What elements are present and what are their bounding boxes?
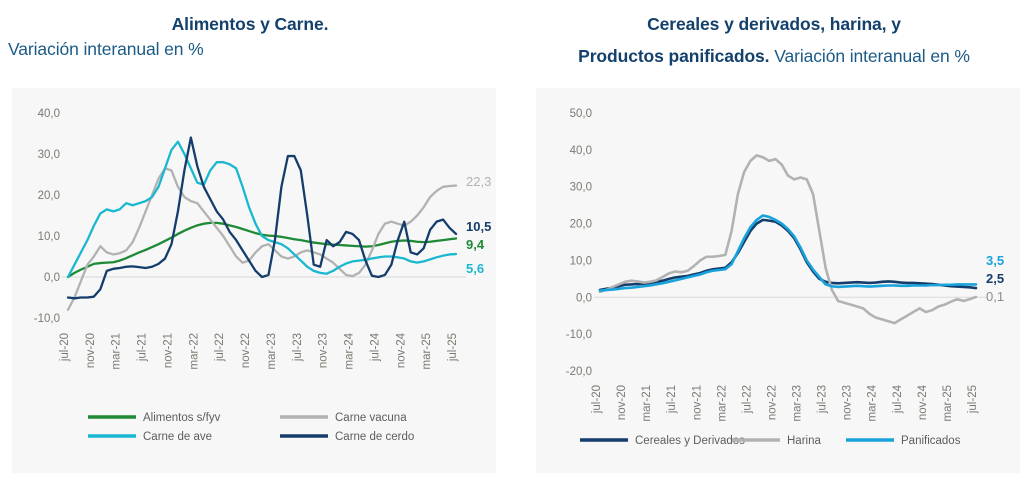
end-value-label: 0,1 [986,289,1004,304]
x-tick-label: jul-22 [214,333,226,362]
panel-alimentos-y-carne: Alimentos y Carne. Variación interanual … [0,0,500,492]
y-tick-label: 10,0 [570,255,592,267]
x-tick-label: jul-23 [817,385,829,414]
x-tick-label: mar-23 [266,333,278,369]
legend-label: Harina [787,435,821,447]
x-tick-label: jul-24 [369,332,381,362]
y-tick-label: -10,0 [34,313,60,325]
legend-label: Carne de cerdo [335,431,414,443]
y-tick-label: 30,0 [38,149,60,161]
x-tick-label: mar-22 [716,385,728,421]
x-tick-label: nov-20 [616,385,628,420]
x-tick-label: mar-24 [867,384,879,421]
x-tick-label: mar-24 [344,332,356,369]
x-tick-label: mar-23 [792,385,804,421]
left-legend: Alimentos s/fyvCarne vacunaCarne de aveC… [88,412,414,443]
y-tick-label: 20,0 [570,219,592,231]
x-tick-label: mar-25 [942,385,954,421]
y-tick-label: 10,0 [38,231,60,243]
end-value-label: 22,3 [466,174,491,189]
x-tick-label: mar-25 [421,333,433,369]
left-y-axis-ticks: 40,030,020,010,00,0-10,0 [34,108,60,325]
left-series-lines [68,138,456,310]
x-tick-label: jul-21 [666,385,678,414]
y-tick-label: 30,0 [570,182,592,194]
legend-label: Panificados [901,435,961,447]
end-value-label: 5,6 [466,261,484,276]
x-tick-label: mar-21 [111,333,123,369]
x-tick-label: jul-25 [447,333,459,362]
y-tick-label: 40,0 [570,145,592,157]
x-tick-label: jul-21 [137,333,149,362]
end-value-label: 9,4 [466,237,485,252]
x-tick-label: nov-22 [240,333,252,368]
x-tick-label: nov-23 [318,333,330,368]
left-x-axis-ticks: jul-20nov-20mar-21jul-21nov-21mar-22jul-… [59,332,459,369]
right-chart-svg: 50,040,030,020,010,00,0-10,0-20,0 jul-20… [524,0,1024,492]
x-tick-label: jul-20 [591,385,603,414]
series-line [68,138,456,299]
x-tick-label: nov-24 [395,332,407,368]
x-tick-label: nov-21 [163,333,175,368]
x-tick-label: nov-22 [767,385,779,420]
x-tick-label: nov-21 [691,385,703,420]
right-x-axis-ticks: jul-20nov-20mar-21jul-21nov-21mar-22jul-… [591,384,979,421]
right-legend: Cereales y DerivadosHarinaPanificados [580,435,961,447]
x-tick-label: jul-23 [292,333,304,362]
y-tick-label: 40,0 [38,108,60,120]
x-tick-label: nov-20 [85,333,97,368]
x-tick-label: mar-21 [641,385,653,421]
series-line [68,142,456,277]
end-value-label: 2,5 [986,271,1004,286]
legend-label: Alimentos s/fyv [143,412,221,424]
y-tick-label: -10,0 [566,329,592,341]
x-tick-label: nov-23 [842,385,854,420]
left-end-value-labels: 22,310,59,45,6 [466,174,491,276]
right-end-value-labels: 3,52,50,1 [986,253,1004,304]
y-tick-label: 50,0 [570,108,592,120]
x-tick-label: jul-22 [741,385,753,414]
panel-cereales-harina-panificados: Cereales y derivados, harina, y Producto… [524,0,1024,492]
left-chart-svg: 40,030,020,010,00,0-10,0 jul-20nov-20mar… [0,0,500,492]
x-tick-label: mar-22 [188,333,200,369]
y-tick-label: -20,0 [566,366,592,378]
legend-label: Carne vacuna [335,412,407,424]
y-tick-label: 0,0 [576,292,592,304]
x-tick-label: jul-24 [892,384,904,414]
y-tick-label: 0,0 [44,272,60,284]
x-tick-label: jul-20 [59,333,71,362]
end-value-label: 3,5 [986,253,1004,268]
x-tick-label: jul-25 [967,385,979,414]
y-tick-label: 20,0 [38,190,60,202]
dashboard-root: Alimentos y Carne. Variación interanual … [0,0,1024,492]
end-value-label: 10,5 [466,219,491,234]
x-tick-label: nov-24 [917,384,929,420]
right-y-axis-ticks: 50,040,030,020,010,00,0-10,0-20,0 [566,108,592,378]
legend-label: Carne de ave [143,431,212,443]
legend-label: Cereales y Derivados [635,435,745,447]
